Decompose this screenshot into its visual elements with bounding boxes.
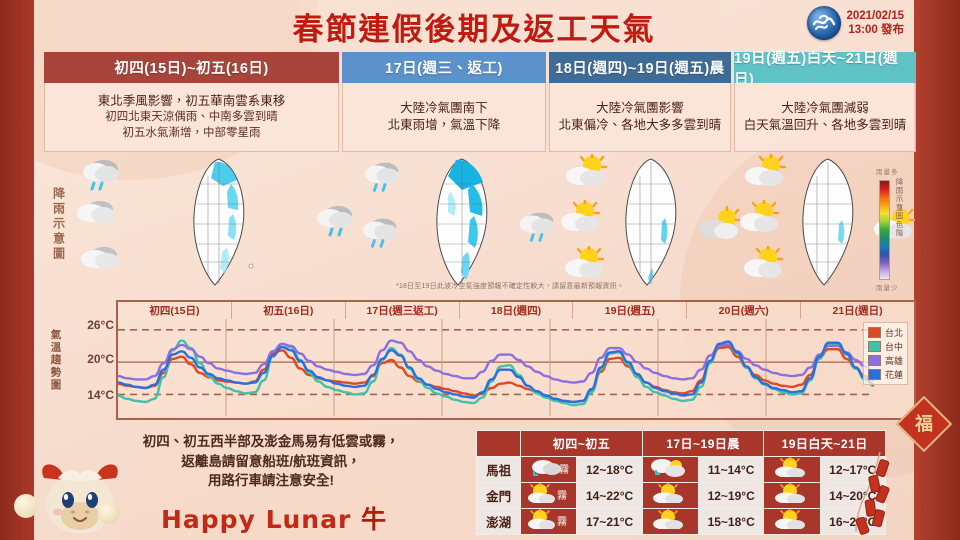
svg-text:霧: 霧: [557, 490, 567, 502]
note-line: 返離島請留意船班/航班資訊，: [106, 452, 436, 472]
decor-sphere: [98, 502, 120, 524]
sun-cloud-icon: [738, 200, 784, 239]
row-temp: 14~22°C: [577, 483, 642, 509]
sun-cloud-icon: [742, 246, 788, 285]
ox-char: 牛: [361, 505, 387, 534]
cwb-logo-icon: [807, 6, 841, 40]
sun-cloud-icon: [559, 200, 605, 239]
legend-item-taichung: 台中: [868, 340, 903, 353]
sun-cloud-icon: [764, 483, 820, 509]
legend-title: 降雨示意圖色階: [894, 178, 905, 238]
temperature-chart: 氣溫趨勢圖 26°C 20°C 14°C 初四(15日) 初五(16日) 17日…: [44, 300, 916, 420]
infographic-root: 春節連假後期及返工天氣 2021/02/15 13:00 發布 初四(15日)~…: [0, 0, 960, 540]
sun-cloud-icon: [694, 206, 740, 245]
ox-mascot-icon: [24, 452, 136, 540]
y-tick-20: 20°C: [87, 352, 114, 366]
chart-legend: 台北 台中 高雄 花蓮: [863, 322, 908, 385]
legend-swatch: [868, 369, 881, 380]
rainfall-section-label: 降雨示意圖: [44, 152, 74, 297]
title-bar: 春節連假後期及返工天氣 2021/02/15 13:00 發布: [34, 0, 914, 52]
forecast-column-2[interactable]: 17日(週三、返工) 大陸冷氣團南下 北東雨增，氣溫下降: [342, 52, 546, 152]
forecast-description: 大陸冷氣團影響 北東偏冷、各地大多多雲到晴: [549, 83, 731, 152]
map-panel-3[interactable]: [561, 152, 739, 297]
forecast-line: 白天氣溫回升、各地多雲到晴: [744, 117, 907, 134]
forecast-column-1[interactable]: 初四(15日)~初五(16日) 東北季風影響，初五華南雲系東移 初四北東天涼偶雨…: [44, 52, 339, 152]
rainfall-legend: 雨量多 降雨示意圖色階 雨量少: [874, 166, 940, 292]
legend-label: 花蓮: [885, 368, 903, 381]
forecast-period-header: 17日(週三、返工): [342, 52, 546, 83]
forecast-description: 大陸冷氣團減弱 白天氣溫回升、各地多雲到晴: [734, 83, 916, 152]
forecast-description: 東北季風影響，初五華南雲系東移 初四北東天涼偶雨、中南多雲到晴 初五水氣漸增，中…: [44, 83, 339, 152]
firecracker-icon: [854, 452, 904, 540]
fu-char: 福: [906, 406, 942, 442]
legend-label: 台北: [885, 326, 903, 339]
issue-time: 13:00 發布: [846, 23, 904, 37]
chart-y-axis: 26°C 20°C 14°C: [68, 300, 116, 420]
svg-text:霧: 霧: [557, 516, 567, 528]
table-row[interactable]: 澎湖 霧 17~21°C 15~18°C 16~20°C: [477, 509, 886, 535]
row-temp: 12~19°C: [698, 483, 763, 509]
forecast-line: 大陸冷氣團減弱: [781, 100, 869, 117]
row-place-penghu: 澎湖: [477, 509, 521, 535]
greeting-prefix: Happy Lunar: [161, 505, 361, 534]
legend-color-scale: [879, 180, 890, 280]
row-temp: 11~14°C: [698, 457, 763, 483]
note-line: 初四、初五西半部及澎金馬易有低雲或霧，: [106, 432, 436, 452]
sun-cloud-icon: [764, 509, 820, 535]
row-temp: 12~18°C: [577, 457, 642, 483]
page-title: 春節連假後期及返工天氣: [34, 4, 914, 49]
forecast-line: 東北季風影響，初五華南雲系東移: [98, 93, 286, 110]
cloud-fog-icon: 霧: [521, 457, 577, 483]
cloud-rain-icon: [80, 156, 126, 197]
cloud-rain-icon: [360, 214, 404, 255]
map-panel-1[interactable]: [74, 152, 362, 297]
sun-cloud-icon: [563, 246, 609, 285]
cloud-rain-icon: [314, 202, 360, 243]
row-place-matsu: 馬祖: [477, 457, 521, 483]
forecast-line: 初五水氣漸增，中部零星雨: [122, 126, 260, 142]
legend-swatch: [868, 341, 881, 352]
issue-datetime: 2021/02/15 13:00 發布: [846, 9, 904, 38]
table-row[interactable]: 金門 霧 14~22°C 12~19°C 14~20°C: [477, 483, 886, 509]
rainfall-map-strip: 降雨示意圖: [44, 152, 916, 297]
chart-plot-area[interactable]: 初四(15日) 初五(16日) 17日(週三返工) 18日(週四) 19日(週五…: [116, 300, 916, 420]
sun-cloud-fog-icon: 霧: [521, 509, 577, 535]
forecast-description: 大陸冷氣團南下 北東雨增，氣溫下降: [342, 83, 546, 152]
forecast-line: 北東偏冷、各地大多多雲到晴: [559, 117, 722, 134]
legend-swatch: [868, 327, 881, 338]
cloud-icon: [74, 198, 120, 233]
sun-cloud-fog-icon: 霧: [521, 483, 577, 509]
decor-sphere: [14, 494, 38, 518]
map-panel-2[interactable]: [362, 152, 561, 297]
svg-text:霧: 霧: [559, 464, 569, 476]
forecast-column-3[interactable]: 18日(週四)~19日(週五)晨 大陸冷氣團影響 北東偏冷、各地大多多雲到晴: [549, 52, 731, 152]
chart-curves: [118, 302, 874, 418]
table-col-period-2: 17日~19日晨: [642, 431, 764, 457]
forecast-line: 大陸冷氣團南下: [400, 100, 488, 117]
forecast-period-header: 初四(15日)~初五(16日): [44, 52, 339, 83]
sun-cloud-fog-icon: [642, 457, 698, 483]
travel-advisory-note: 初四、初五西半部及澎金馬易有低雲或霧， 返離島請留意船班/航班資訊， 用路行車請…: [106, 432, 436, 491]
greeting-suffix: Year: [241, 536, 307, 540]
issue-stamp: 2021/02/15 13:00 發布: [807, 6, 904, 40]
y-tick-14: 14°C: [87, 388, 114, 402]
forecast-line: 初四北東天涼偶雨、中南多雲到晴: [105, 110, 278, 126]
legend-swatch: [868, 355, 881, 366]
forecast-columns: 初四(15日)~初五(16日) 東北季風影響，初五華南雲系東移 初四北東天涼偶雨…: [44, 52, 916, 152]
cloud-rain-icon: [362, 158, 406, 199]
greeting-text: Happy Lunar 牛 Year: [124, 500, 424, 540]
legend-item-taipei: 台北: [868, 326, 903, 339]
forecast-line: 北東雨增，氣溫下降: [388, 117, 501, 134]
legend-label: 台中: [885, 340, 903, 353]
forecast-line: 大陸冷氣團影響: [596, 100, 684, 117]
legend-max-label: 雨量多: [876, 166, 899, 176]
sun-cloud-icon: [642, 483, 698, 509]
row-temp: 17~21°C: [577, 509, 642, 535]
table-col-period-1: 初四~初五: [521, 431, 643, 457]
y-tick-26: 26°C: [87, 318, 114, 332]
legend-item-hualien: 花蓮: [868, 368, 903, 381]
chart-section-label: 氣溫趨勢圖: [44, 300, 68, 420]
cloud-icon: [78, 244, 124, 279]
row-place-kinmen: 金門: [477, 483, 521, 509]
table-row[interactable]: 馬祖 霧 12~18°C 11~14°C 12~17°C: [477, 457, 886, 483]
legend-label: 高雄: [885, 354, 903, 367]
table-header-row: 初四~初五 17日~19日晨 19日白天~21日: [477, 431, 886, 457]
forecast-period-header: 18日(週四)~19日(週五)晨: [549, 52, 731, 83]
map-cells: [74, 152, 916, 297]
note-line: 用路行車請注意安全!: [106, 471, 436, 491]
row-temp: 15~18°C: [698, 509, 763, 535]
sun-cloud-icon: [642, 509, 698, 535]
forecast-column-4[interactable]: 19日(週五)白天~21日(週日) 大陸冷氣團減弱 白天氣溫回升、各地多雲到晴: [734, 52, 916, 152]
forecast-period-header: 19日(週五)白天~21日(週日): [734, 52, 916, 83]
map-footnote: *18日至19日此波冷空氣強度預報不確定性較大，請留意最新預報資訊。: [300, 281, 720, 291]
sun-cloud-icon: [742, 154, 788, 193]
legend-item-kaohsiung: 高雄: [868, 354, 903, 367]
issue-date: 2021/02/15: [846, 9, 904, 23]
table-corner-cell: [477, 431, 521, 457]
sun-cloud-icon: [764, 457, 820, 483]
island-forecast-table[interactable]: 初四~初五 17日~19日晨 19日白天~21日 馬祖 霧 12~18°C 11…: [476, 430, 886, 535]
legend-min-label: 雨量少: [876, 282, 899, 292]
cloud-rain-icon: [517, 208, 561, 249]
sun-cloud-icon: [563, 154, 609, 193]
